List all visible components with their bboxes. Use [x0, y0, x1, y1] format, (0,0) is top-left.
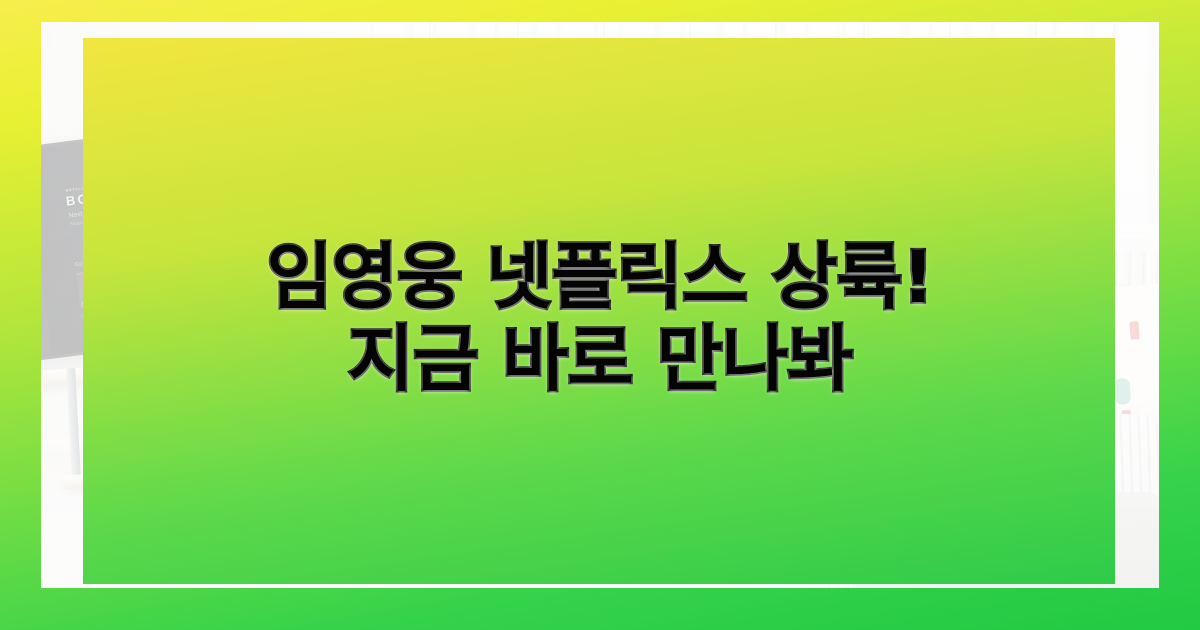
photo-light-overlay	[41, 22, 1159, 588]
background-photo: NETFLIX ORIGINAL BOJACK HORSEMAN Next Ep…	[41, 22, 1159, 588]
og-image-card: NETFLIX ORIGINAL BOJACK HORSEMAN Next Ep…	[0, 0, 1200, 630]
living-room-scene: NETFLIX ORIGINAL BOJACK HORSEMAN Next Ep…	[41, 22, 1159, 588]
